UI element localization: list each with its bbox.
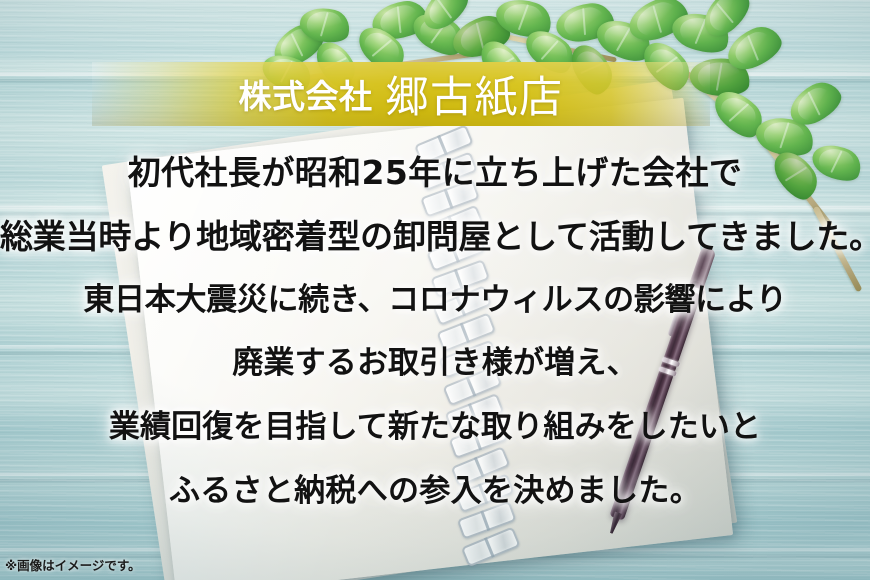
copy-line-6: ふるさと納税への参入を決めました。 bbox=[0, 476, 870, 507]
copy-line-3: 東日本大震災に続き、コロナウィルスの影響により bbox=[0, 285, 870, 316]
copy-line-1: 初代社長が昭和25年に立ち上げた会社で bbox=[0, 156, 870, 189]
page-title: 株式会社 郷古紙店 bbox=[92, 62, 710, 126]
copy-line-4: 廃業するお取引き様が増え、 bbox=[0, 348, 870, 379]
body-copy: 初代社長が昭和25年に立ち上げた会社で 総業当時より地域密着型の卸問屋として活動… bbox=[0, 142, 870, 507]
copy-line-2: 総業当時より地域密着型の卸問屋として活動してきました。 bbox=[0, 220, 870, 253]
promo-banner: 株式会社 郷古紙店 初代社長が昭和25年に立ち上げた会社で 総業当時より地域密着… bbox=[0, 0, 870, 580]
image-disclaimer: ※画像はイメージです。 bbox=[5, 555, 141, 574]
company-prefix: 株式会社 bbox=[239, 70, 373, 118]
copy-line-5: 業績回復を目指して新たな取り組みをしたいと bbox=[0, 412, 870, 443]
company-name: 郷古紙店 bbox=[386, 63, 564, 125]
